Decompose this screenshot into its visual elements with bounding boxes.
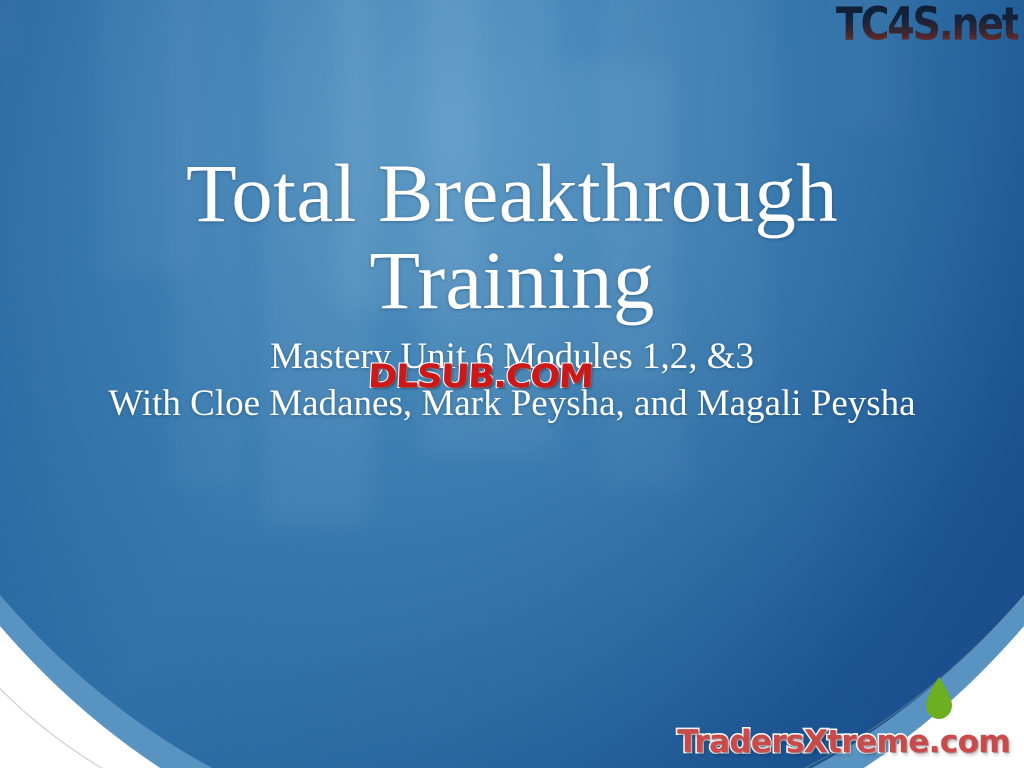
droplet-icon xyxy=(922,676,956,720)
presentation-slide: Total Breakthrough Training Mastery Unit… xyxy=(0,0,1024,768)
dlsub-watermark: DLSUB.COM xyxy=(367,359,593,396)
tc4s-watermark: TC4S.net xyxy=(835,0,1018,51)
brand-block: TradersXtreme.com xyxy=(677,676,1010,760)
brand-name: TradersXtreme.com xyxy=(677,724,1010,760)
page-title: Total Breakthrough Training xyxy=(82,150,942,324)
